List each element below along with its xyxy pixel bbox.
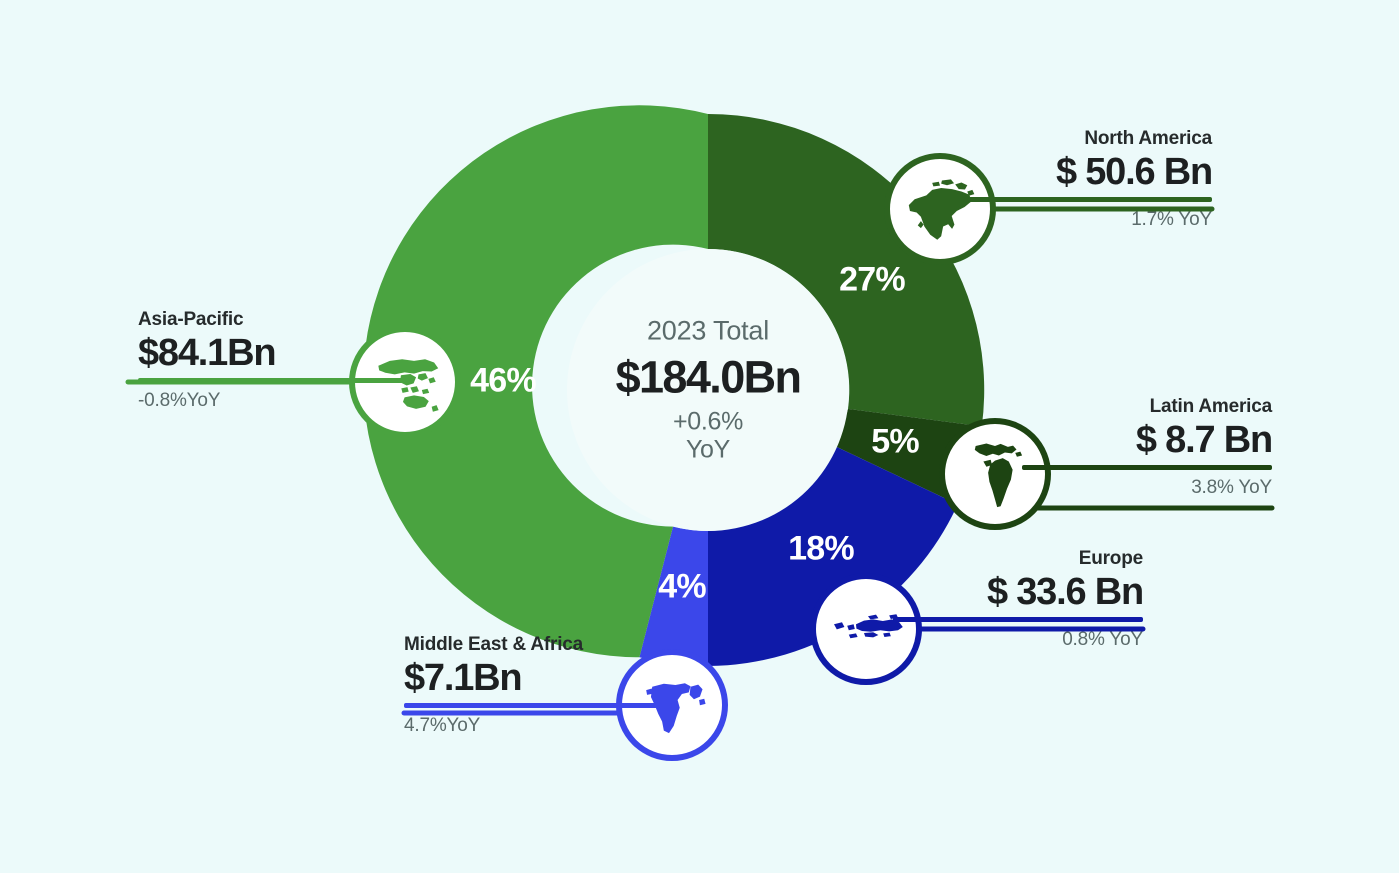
callout-region-middle-east-africa: Middle East & Africa	[404, 634, 672, 656]
callout-region-latin-america: Latin America	[1022, 396, 1272, 418]
callout-rule-asia-pacific	[138, 378, 405, 383]
callout-latin-america: Latin America $ 8.7 Bn 3.8% YoY	[1022, 396, 1272, 499]
callout-amount-asia-pacific: $84.1Bn	[138, 332, 405, 375]
infographic-canvas: 2023 Total $184.0Bn +0.6% YoY 27% 5% 18%…	[0, 0, 1399, 873]
callout-rule-latin-america	[1022, 465, 1272, 470]
callout-region-europe: Europe	[893, 548, 1143, 570]
callout-yoy-latin-america: 3.8% YoY	[1022, 477, 1272, 499]
callout-amount-latin-america: $ 8.7 Bn	[1022, 419, 1272, 462]
callout-region-north-america: North America	[962, 128, 1212, 150]
callout-yoy-middle-east-africa: 4.7%YoY	[404, 715, 672, 737]
callout-region-asia-pacific: Asia-Pacific	[138, 309, 405, 331]
callout-amount-europe: $ 33.6 Bn	[893, 571, 1143, 614]
callout-north-america: North America $ 50.6 Bn 1.7% YoY	[962, 128, 1212, 231]
callout-rule-europe	[893, 617, 1143, 622]
callout-asia-pacific: Asia-Pacific $84.1Bn -0.8%YoY	[138, 309, 405, 412]
callout-yoy-north-america: 1.7% YoY	[962, 209, 1212, 231]
callout-rule-north-america	[962, 197, 1212, 202]
callout-rule-middle-east-africa	[404, 703, 672, 708]
callout-europe: Europe $ 33.6 Bn 0.8% YoY	[893, 548, 1143, 651]
callout-yoy-asia-pacific: -0.8%YoY	[138, 390, 405, 412]
callout-amount-north-america: $ 50.6 Bn	[962, 151, 1212, 194]
donut-hole	[567, 249, 849, 531]
callout-amount-middle-east-africa: $7.1Bn	[404, 657, 672, 700]
callout-yoy-europe: 0.8% YoY	[893, 629, 1143, 651]
callout-middle-east-africa: Middle East & Africa $7.1Bn 4.7%YoY	[404, 634, 672, 737]
